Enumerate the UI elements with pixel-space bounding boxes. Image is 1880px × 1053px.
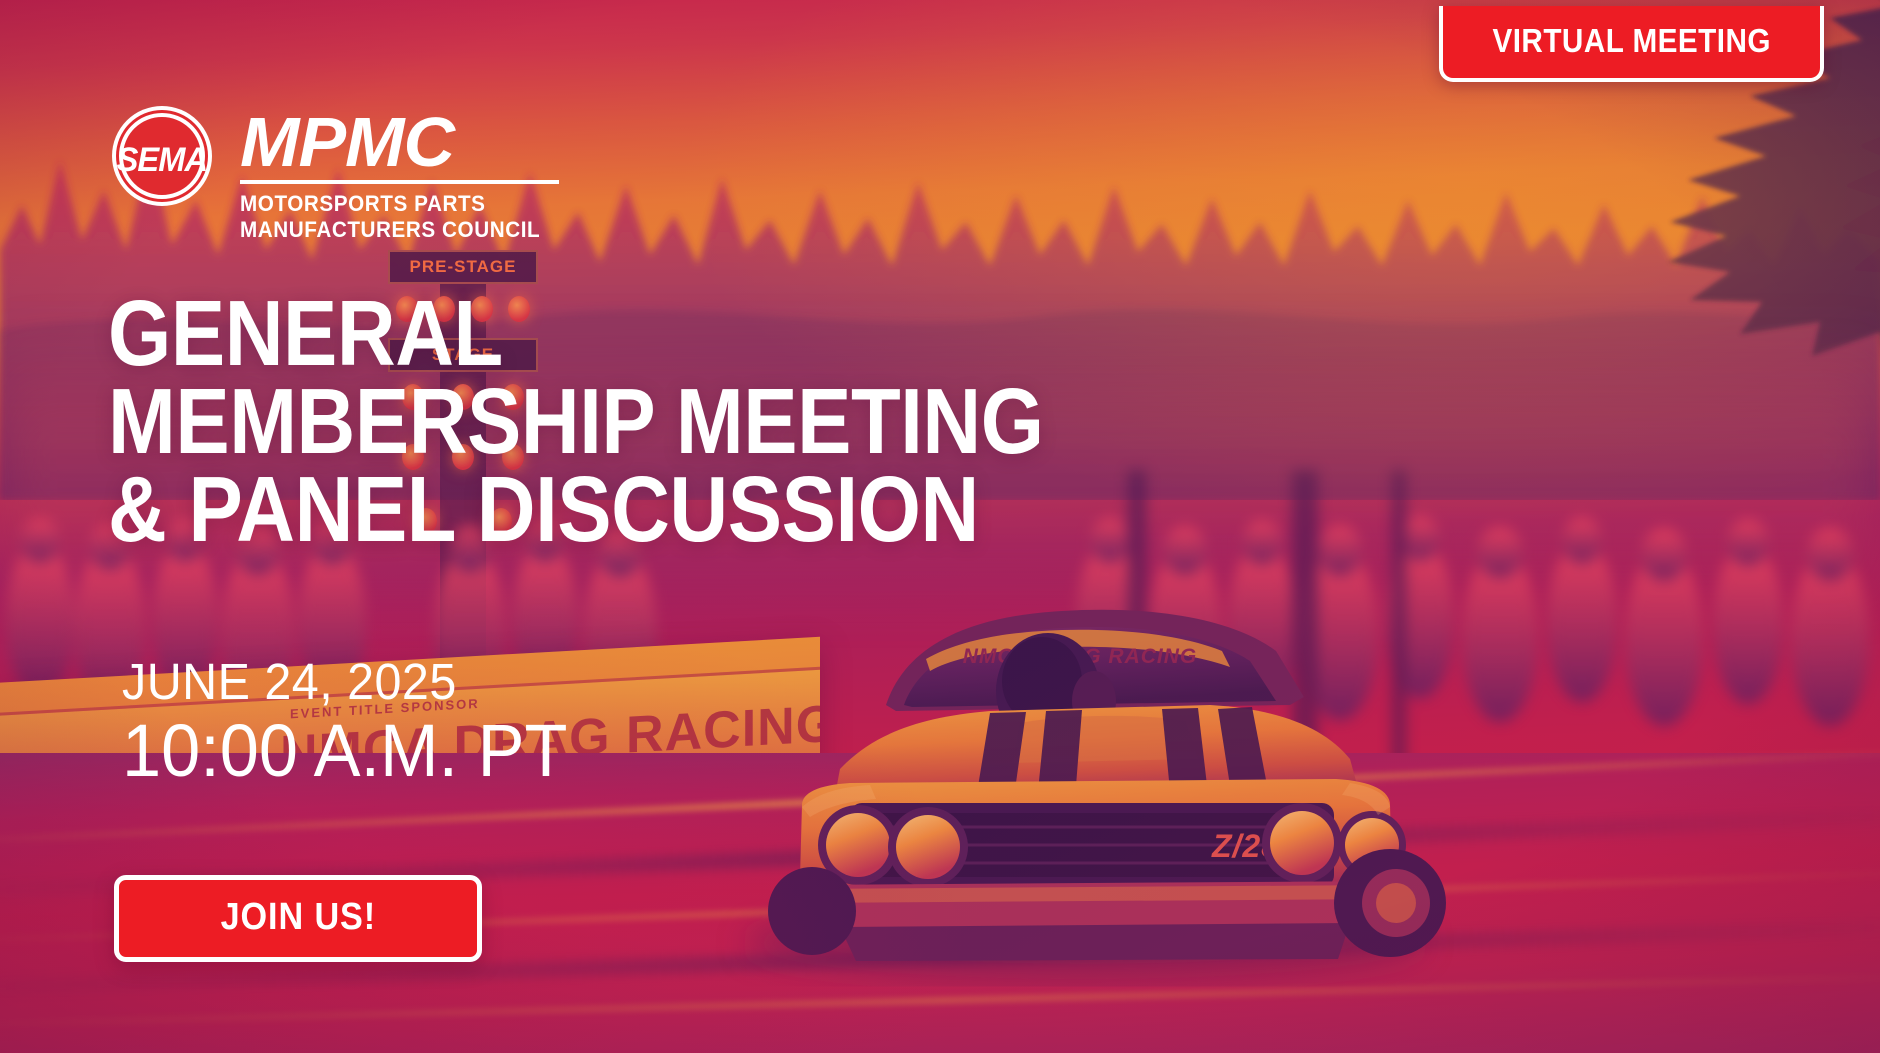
mpmc-subtitle-line1: MOTORSPORTS PARTS	[240, 191, 540, 217]
mpmc-wordmark: MPMC	[240, 110, 566, 174]
mpmc-logo-lockup: SEMA MPMC MOTORSPORTS PARTS MANUFACTURER…	[110, 104, 559, 243]
headline-line-3: & PANEL DISCUSSION	[108, 466, 1044, 554]
event-promo-poster: PRE-STAGE STAGE	[0, 0, 1880, 1053]
event-time: 10:00 A.M. PT	[122, 713, 567, 790]
join-us-button-label: JOIN US!	[220, 896, 375, 939]
event-date: JUNE 24, 2025	[122, 655, 567, 709]
mpmc-subtitle-line2: MANUFACTURERS COUNCIL	[240, 217, 540, 243]
join-us-button[interactable]: JOIN US!	[114, 875, 482, 962]
virtual-meeting-badge-label: VIRTUAL MEETING	[1492, 22, 1770, 60]
event-datetime: JUNE 24, 2025 10:00 A.M. PT	[122, 655, 591, 790]
sema-logo-icon: SEMA	[110, 104, 214, 208]
virtual-meeting-badge: VIRTUAL MEETING	[1439, 6, 1824, 82]
page-title: GENERAL MEMBERSHIP MEETING & PANEL DISCU…	[108, 290, 1177, 554]
svg-text:SEMA: SEMA	[117, 141, 207, 179]
poster-content: VIRTUAL MEETING SEMA MPMC MOTORSPORTS PA…	[0, 0, 1880, 1053]
headline-line-2: MEMBERSHIP MEETING	[108, 378, 1044, 466]
headline-line-1: GENERAL	[108, 290, 1044, 378]
mpmc-wordmark-block: MPMC MOTORSPORTS PARTS MANUFACTURERS COU…	[240, 104, 559, 243]
